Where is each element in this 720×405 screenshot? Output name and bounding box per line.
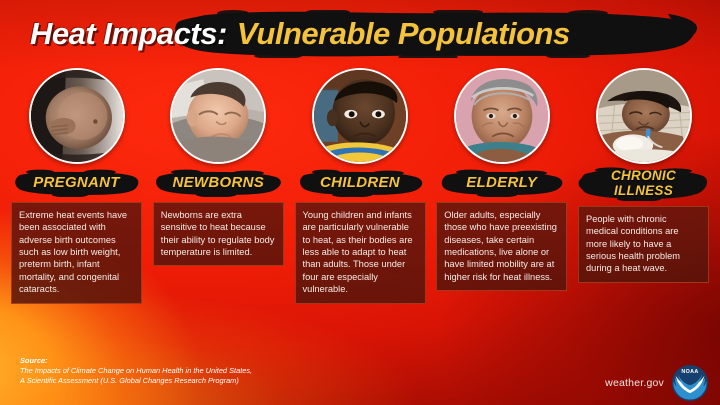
columns-container: PREGNANT Extreme heat events have been a… xyxy=(0,68,720,353)
title-sub: Vulnerable Populations xyxy=(237,16,570,51)
body-text-children: Young children and infants are particula… xyxy=(295,202,426,304)
pregnant-belly-image xyxy=(31,70,123,162)
label-brush-newborns: NEWBORNS xyxy=(152,169,285,197)
label-chronic-illness: CHRONIC ILLNESS xyxy=(611,169,676,198)
column-chronic-illness: CHRONIC ILLNESS People with chronic medi… xyxy=(577,68,710,353)
label-brush-elderly: ELDERLY xyxy=(435,169,568,197)
young-child-image xyxy=(314,70,406,162)
column-newborns: NEWBORNS Newborns are extra sensitive to… xyxy=(152,68,285,353)
label-brush-pregnant: PREGNANT xyxy=(10,169,143,197)
label-brush-chronic-illness: CHRONIC ILLNESS xyxy=(577,167,710,201)
young-child-photo xyxy=(312,68,408,164)
weather-gov-label: weather.gov xyxy=(605,377,664,389)
source-citation: Source: The Impacts of Climate Change on… xyxy=(20,356,440,387)
label-newborns: NEWBORNS xyxy=(172,175,264,190)
pregnant-belly-photo xyxy=(29,68,125,164)
body-text-pregnant: Extreme heat events have been associated… xyxy=(11,202,142,304)
label-pregnant: PREGNANT xyxy=(33,175,120,190)
branding: weather.gov NOAA xyxy=(605,365,708,401)
label-children: CHILDREN xyxy=(320,175,400,190)
elderly-woman-image xyxy=(456,70,548,162)
label-elderly: ELDERLY xyxy=(466,175,537,190)
column-pregnant: PREGNANT Extreme heat events have been a… xyxy=(10,68,143,353)
noaa-logo-text: NOAA xyxy=(681,369,698,375)
title-main: Heat Impacts: xyxy=(30,16,227,51)
body-text-chronic-illness: People with chronic medical conditions a… xyxy=(578,206,709,283)
column-elderly: ELDERLY Older adults, especially those w… xyxy=(435,68,568,353)
source-line-1: The Impacts of Climate Change on Human H… xyxy=(20,366,440,376)
title-text-group: Heat Impacts:Vulnerable Populations xyxy=(0,16,570,52)
elderly-woman-photo xyxy=(454,68,550,164)
body-text-newborns: Newborns are extra sensitive to heat bec… xyxy=(153,202,284,266)
hospital-patient-photo xyxy=(596,68,692,164)
source-label: Source: xyxy=(20,356,440,366)
hospital-patient-image xyxy=(598,70,690,162)
label-brush-children: CHILDREN xyxy=(294,169,427,197)
page-title: Heat Impacts:Vulnerable Populations xyxy=(0,4,720,64)
column-children: CHILDREN Young children and infants are … xyxy=(294,68,427,353)
noaa-logo: NOAA xyxy=(672,365,708,401)
sleeping-newborn-image xyxy=(172,70,264,162)
body-text-elderly: Older adults, especially those who have … xyxy=(436,202,567,291)
source-line-2: A Scientific Assessment (U.S. Global Cha… xyxy=(20,376,440,386)
sleeping-newborn-photo xyxy=(170,68,266,164)
